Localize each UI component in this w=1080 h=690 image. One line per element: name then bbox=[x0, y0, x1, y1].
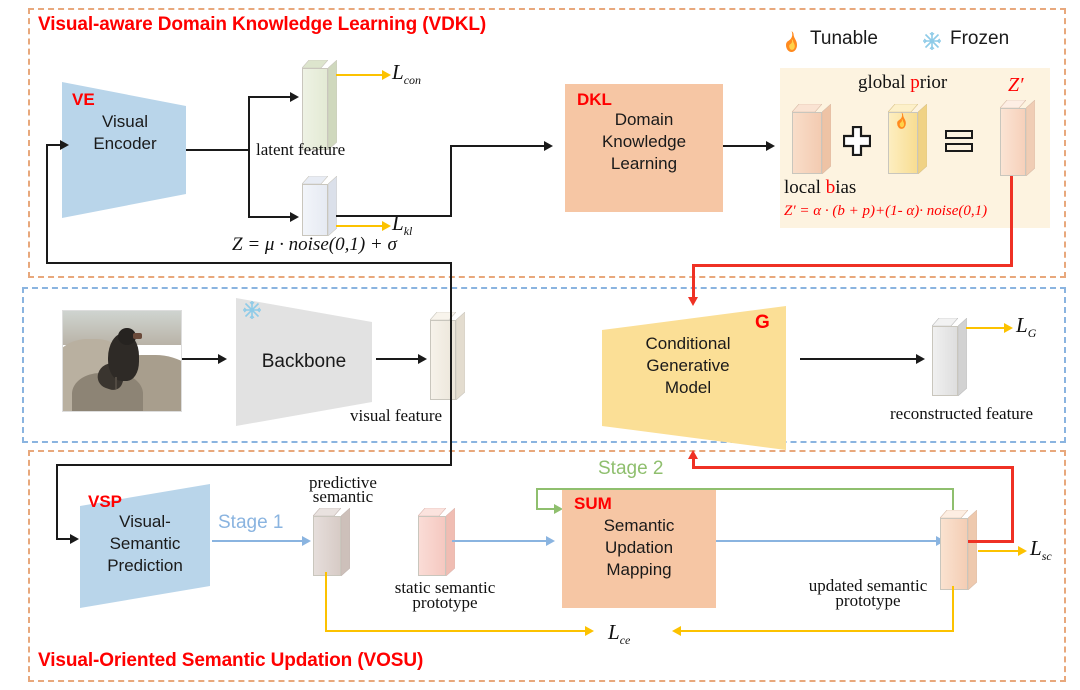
z-sampling-equation: Z = μ · noise(0,1) + σ bbox=[232, 234, 397, 256]
cgm-label-line1: Conditional bbox=[608, 334, 768, 355]
latent-feature-bar bbox=[302, 60, 328, 150]
lkl-arrow-line bbox=[336, 225, 384, 227]
sum-label-line1: Semantic bbox=[562, 516, 716, 537]
local-bias-part1: local bbox=[784, 177, 826, 198]
visual-feature-label: visual feature bbox=[350, 406, 442, 426]
image-to-backbone-line bbox=[182, 358, 220, 360]
z-to-dkl-seg3 bbox=[450, 145, 546, 147]
global-prior-part3: rior bbox=[920, 72, 947, 93]
lg-arrow-head bbox=[1004, 323, 1013, 333]
ve-to-z-line bbox=[248, 216, 292, 218]
reconstructed-feature-label: reconstructed feature bbox=[890, 404, 1033, 424]
static-semantic-prototype-bar bbox=[418, 508, 446, 576]
loss-lcon-base: L bbox=[392, 60, 404, 84]
cgm-label-line2: Generative bbox=[608, 356, 768, 377]
z-latent-bar bbox=[302, 176, 328, 236]
figure-canvas: Visual-aware Domain Knowledge Learning (… bbox=[0, 0, 1080, 690]
loss-lg-base: L bbox=[1016, 313, 1028, 337]
sum-label-line2: Updation bbox=[562, 538, 716, 559]
global-prior-label: global prior bbox=[858, 72, 947, 94]
loss-lsc-sub: sc bbox=[1042, 549, 1052, 563]
legend-tunable-label: Tunable bbox=[810, 28, 878, 50]
ve-output-line bbox=[186, 149, 250, 151]
zprime-red-seg2 bbox=[692, 264, 1013, 267]
equals-icon bbox=[945, 130, 973, 152]
lce-left-horiz bbox=[325, 630, 587, 632]
loss-lsc: Lsc bbox=[1030, 536, 1052, 564]
latent-feature-label: latent feature bbox=[256, 140, 345, 160]
global-prior-part1: global bbox=[858, 72, 910, 93]
stage2-label: Stage 2 bbox=[598, 458, 664, 480]
z-to-dkl-seg1 bbox=[336, 215, 452, 217]
lce-right-horiz bbox=[680, 630, 954, 632]
ve-feedback-arrow bbox=[60, 140, 69, 150]
ve-feedback-left bbox=[46, 144, 48, 264]
backbone-to-feature-arrow bbox=[418, 354, 427, 364]
stage2-green-into-sum bbox=[536, 508, 556, 510]
updated-red-seg3 bbox=[692, 466, 1014, 469]
lce-left-vert bbox=[325, 572, 327, 632]
updated-red-seg1 bbox=[968, 540, 1014, 543]
feature-to-vsp-top bbox=[56, 464, 452, 466]
zprime-red-seg1 bbox=[1010, 176, 1013, 266]
loss-lcon: Lcon bbox=[392, 60, 421, 88]
lg-arrow-line bbox=[966, 327, 1006, 329]
feature-to-vsp-left bbox=[56, 464, 58, 540]
updated-red-seg2 bbox=[1011, 466, 1014, 543]
z-to-dkl-arrow bbox=[544, 141, 553, 151]
vsp-label-line1: Visual- bbox=[80, 512, 210, 533]
ve-feedback-bottom bbox=[46, 262, 452, 264]
panel-vdkl-title: Visual-aware Domain Knowledge Learning (… bbox=[38, 14, 486, 36]
z-to-dkl-seg2 bbox=[450, 145, 452, 217]
stage1-arrow-line bbox=[212, 540, 304, 542]
snowflake-icon bbox=[922, 31, 942, 54]
loss-lkl-sub: kl bbox=[404, 224, 413, 238]
cgm-output-line bbox=[800, 358, 918, 360]
sum-label-line3: Mapping bbox=[562, 560, 716, 581]
lcon-arrow-head bbox=[382, 70, 391, 80]
fire-icon bbox=[782, 31, 801, 56]
lce-right-arrow bbox=[672, 626, 681, 636]
backbone-to-feature-line bbox=[376, 358, 420, 360]
fire-icon-global-prior bbox=[894, 112, 909, 133]
ve-to-latent-line bbox=[248, 96, 292, 98]
dkl-label-line3: Learning bbox=[565, 154, 723, 175]
loss-lce: Lce bbox=[608, 620, 630, 648]
z-prime-label: Z′ bbox=[1008, 74, 1024, 97]
static-prototype-label-line2: prototype bbox=[350, 593, 540, 613]
local-bias-bar bbox=[792, 104, 822, 174]
lsc-arrow-line bbox=[978, 550, 1020, 552]
loss-lce-base: L bbox=[608, 620, 620, 644]
zprime-red-seg3 bbox=[692, 264, 695, 299]
lce-left-arrow bbox=[585, 626, 594, 636]
vsp-label-line2: Semantic bbox=[80, 534, 210, 555]
z-prime-equation: Z′ = α · (b + p)+(1- α)· noise(0,1) bbox=[784, 203, 987, 220]
loss-lg-sub: G bbox=[1028, 326, 1037, 340]
ve-label-line1: Visual bbox=[68, 112, 182, 133]
ve-to-latent-arrow bbox=[290, 92, 299, 102]
updated-red-seg4 bbox=[692, 458, 695, 468]
local-bias-part3: ias bbox=[835, 177, 856, 198]
ve-split-line bbox=[248, 96, 250, 218]
input-image bbox=[62, 310, 182, 412]
dkl-label-line2: Knowledge bbox=[565, 132, 723, 153]
predictive-semantic-label-line2: semantic bbox=[298, 487, 388, 507]
cgm-label-line3: Model bbox=[608, 378, 768, 399]
z-prime-bar bbox=[1000, 100, 1026, 176]
vsp-label-line3: Prediction bbox=[80, 556, 210, 577]
lkl-arrow-head bbox=[382, 221, 391, 231]
visual-feature-bar bbox=[430, 312, 456, 400]
snowflake-icon-backbone bbox=[242, 300, 262, 323]
stage2-green-seg-left bbox=[536, 488, 538, 510]
backbone-label: Backbone bbox=[234, 350, 374, 373]
loss-lce-sub: ce bbox=[620, 633, 631, 647]
vsp-tag: VSP bbox=[88, 492, 122, 512]
legend-frozen-label: Frozen bbox=[950, 28, 1009, 50]
reconstructed-feature-bar bbox=[932, 318, 958, 396]
ve-label-line2: Encoder bbox=[68, 134, 182, 155]
local-bias-label: local bias bbox=[784, 177, 856, 199]
lce-right-vert bbox=[952, 586, 954, 631]
dkl-output-arrow bbox=[766, 141, 775, 151]
visual-feature-through-line bbox=[450, 264, 452, 466]
ve-tag: VE bbox=[72, 90, 95, 110]
cgm-tag: G bbox=[755, 312, 770, 334]
loss-lcon-sub: con bbox=[404, 73, 421, 87]
dkl-output-line bbox=[723, 145, 769, 147]
image-to-backbone-arrow bbox=[218, 354, 227, 364]
predictive-semantic-bar bbox=[313, 508, 341, 576]
dkl-label-line1: Domain bbox=[565, 110, 723, 131]
loss-lsc-base: L bbox=[1030, 536, 1042, 560]
dkl-tag: DKL bbox=[577, 90, 612, 110]
loss-lg: LG bbox=[1016, 313, 1036, 341]
global-prior-part2: p bbox=[910, 72, 920, 93]
local-bias-part2: b bbox=[826, 177, 836, 198]
updated-red-arrow bbox=[688, 450, 698, 459]
stage1-label: Stage 1 bbox=[218, 512, 284, 534]
static-to-sum-arrow bbox=[546, 536, 555, 546]
lcon-arrow-line bbox=[336, 74, 384, 76]
cgm-output-arrow bbox=[916, 354, 925, 364]
stage1-arrow-head bbox=[302, 536, 311, 546]
panel-vosu-title: Visual-Oriented Semantic Updation (VOSU) bbox=[38, 650, 423, 672]
sum-to-updated-line bbox=[716, 540, 938, 542]
ve-to-z-arrow bbox=[290, 212, 299, 222]
static-to-sum-line bbox=[452, 540, 548, 542]
lsc-arrow-head bbox=[1018, 546, 1027, 556]
sum-tag: SUM bbox=[574, 494, 612, 514]
plus-icon bbox=[843, 126, 871, 156]
